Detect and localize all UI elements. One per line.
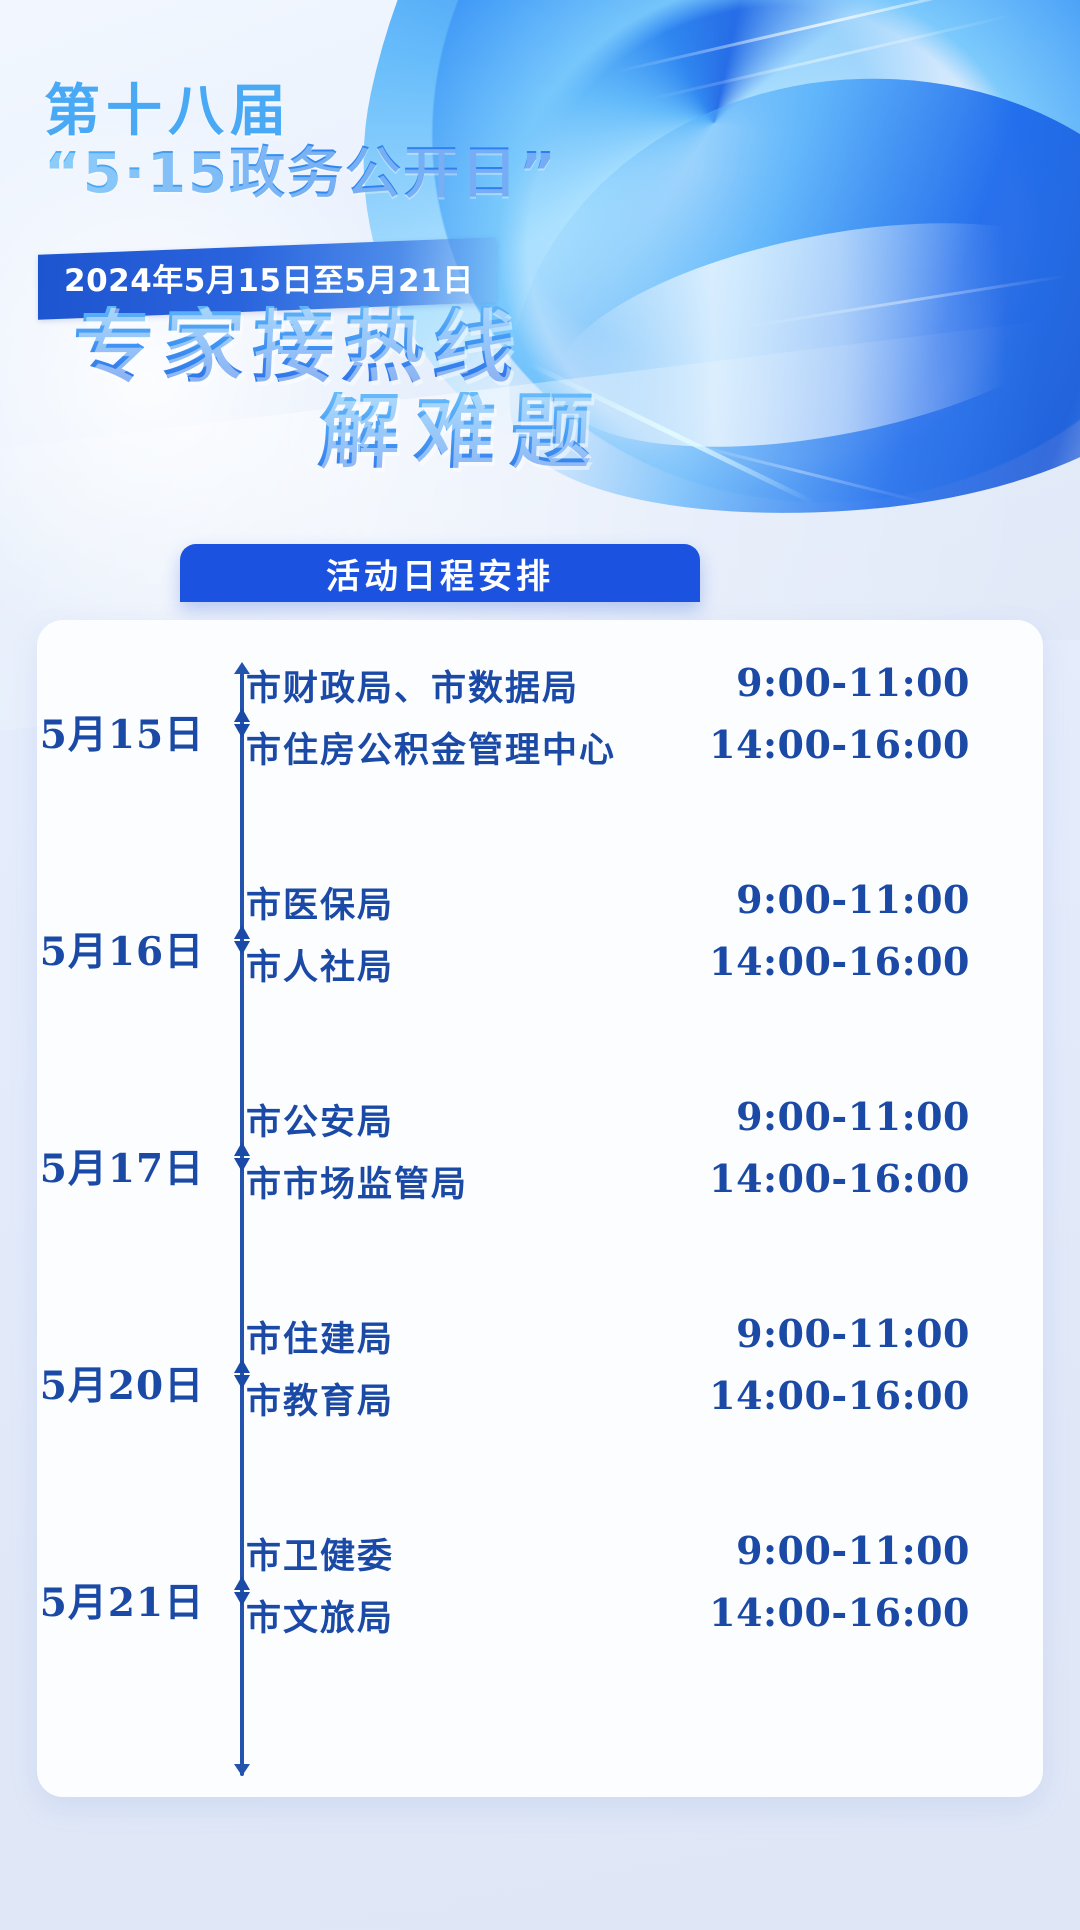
schedule-row: 市医保局9:00-11:00 <box>0 877 1006 937</box>
schedule-time: 14:00-16:00 <box>709 722 970 767</box>
schedule-org: 市公安局 <box>246 1094 394 1145</box>
schedule-row: 市财政局、市数据局9:00-11:00 <box>0 660 1006 720</box>
headline-line-1: 专家接热线 <box>70 306 524 388</box>
schedule-time: 14:00-16:00 <box>709 1590 970 1635</box>
schedule-time: 9:00-11:00 <box>736 660 970 705</box>
poster-root: 第十八届 “5·15政务公开日” 2024年5月15日至5月21日 专家接热线 … <box>0 0 1080 1930</box>
headline-line-2: 解难题 <box>316 392 608 474</box>
schedule-time: 14:00-16:00 <box>709 1373 970 1418</box>
schedule-banner-label: 活动日程安排 <box>326 549 554 598</box>
schedule-row: 市公安局9:00-11:00 <box>0 1094 1006 1154</box>
schedule-time: 9:00-11:00 <box>736 1528 970 1573</box>
schedule-time: 14:00-16:00 <box>709 939 970 984</box>
schedule-org: 市文旅局 <box>246 1590 394 1641</box>
schedule-org: 市住建局 <box>246 1311 394 1362</box>
schedule-row: 市住房公积金管理中心14:00-16:00 <box>0 722 1006 782</box>
schedule-row: 市住建局9:00-11:00 <box>0 1311 1006 1371</box>
schedule-time: 9:00-11:00 <box>736 1094 970 1139</box>
schedule-row: 市卫健委9:00-11:00 <box>0 1528 1006 1588</box>
timeline-bottom-arrow-icon <box>234 1764 250 1776</box>
swirl-gloss-icon <box>536 183 1080 486</box>
schedule-org: 市医保局 <box>246 877 394 928</box>
light-streak-icon <box>673 439 926 505</box>
schedule-time: 9:00-11:00 <box>736 1311 970 1356</box>
schedule-org: 市人社局 <box>246 939 394 990</box>
schedule-row: 市市场监管局14:00-16:00 <box>0 1156 1006 1216</box>
schedule-org: 市教育局 <box>246 1373 394 1424</box>
schedule-org: 市住房公积金管理中心 <box>246 722 616 773</box>
schedule-org: 市卫健委 <box>246 1528 394 1579</box>
light-streak-icon <box>742 274 1068 329</box>
date-range-text: 2024年5月15日至5月21日 <box>64 255 474 300</box>
kicker-line-2: “5·15政务公开日” <box>44 128 558 209</box>
schedule-time: 9:00-11:00 <box>736 877 970 922</box>
schedule-row: 市人社局14:00-16:00 <box>0 939 1006 999</box>
poster-footer: 大连 · 数据 DALIANSHUJU <box>0 1800 1080 1930</box>
light-streak-icon <box>645 13 1016 101</box>
schedule-org: 市市场监管局 <box>246 1156 468 1207</box>
light-streak-icon <box>615 0 1035 73</box>
schedule-row: 市教育局14:00-16:00 <box>0 1373 1006 1433</box>
schedule-banner: 活动日程安排 <box>180 544 700 602</box>
schedule-org: 市财政局、市数据局 <box>246 660 579 711</box>
schedule-row: 市文旅局14:00-16:00 <box>0 1590 1006 1650</box>
schedule-time: 14:00-16:00 <box>709 1156 970 1201</box>
